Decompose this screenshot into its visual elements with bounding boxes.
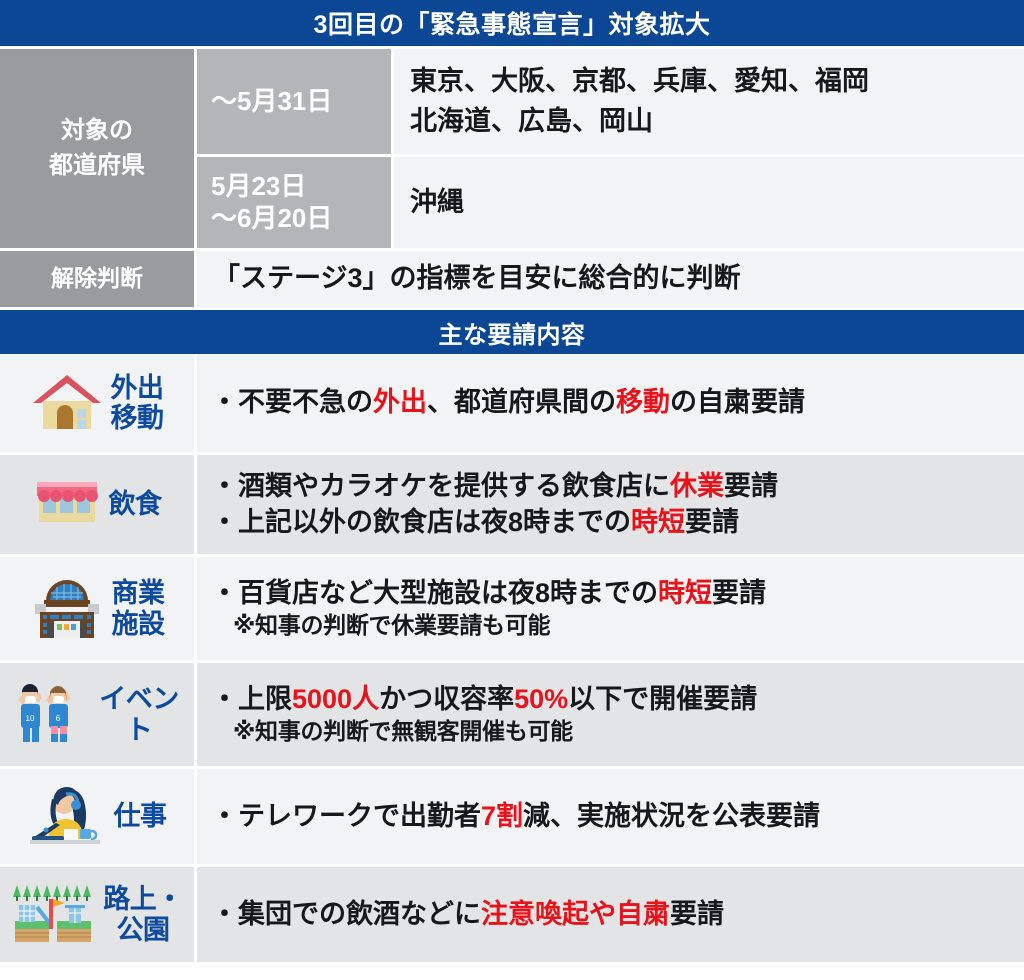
request-caption-line2: 施設 [112, 609, 165, 639]
request-icon-cell: 飲食 [0, 455, 194, 554]
request-line: ・テレワークで出勤者7割減、実施状況を公表要請 [211, 799, 1014, 834]
request-row-department-store: 商業施設・百貨店など大型施設は夜8時までの時短要請※知事の判断で休業要請も可能 [0, 554, 1024, 660]
request-caption-line1: イベント [90, 684, 188, 744]
page-title: 3回目の「緊急事態宣言」対象拡大 [0, 0, 1024, 46]
request-row-storefront: 飲食・酒類やカラオケを提供する飲食店に休業要請・上記以外の飲食店は夜8時までの時… [0, 452, 1024, 554]
request-caption-line1: 仕事 [114, 801, 167, 831]
prefectures-row-label: 対象の 都道府県 [0, 49, 194, 248]
plain-text: 要請 [670, 899, 724, 929]
request-line: ・不要不急の外出、都道府県間の移動の自粛要請 [211, 385, 1014, 420]
cheering-people-icon: 10 6 [6, 680, 82, 749]
plain-text: 要請 [685, 507, 739, 537]
top-table: 対象の 都道府県 〜5月31日 東京、大阪、京都、兵庫、愛知、福岡 北海道、広島… [0, 49, 1024, 307]
value-cell: 東京、大阪、京都、兵庫、愛知、福岡 北海道、広島、岡山 [394, 49, 1024, 154]
highlight-text: 時短 [631, 507, 685, 537]
request-line: ・酒類やカラオケを提供する飲食店に休業要請 [211, 469, 1014, 504]
svg-text:6: 6 [56, 714, 61, 723]
plain-text: 要請 [724, 471, 778, 501]
request-caption: 商業施設 [112, 578, 165, 638]
plain-text: かつ収容率 [379, 684, 514, 714]
plain-text: ・集団での飲酒などに [211, 899, 481, 929]
table-row: 〜5月31日 東京、大阪、京都、兵庫、愛知、福岡 北海道、広島、岡山 [197, 49, 1024, 154]
prefectures-block: 対象の 都道府県 〜5月31日 東京、大阪、京都、兵庫、愛知、福岡 北海道、広島… [0, 49, 1024, 248]
request-icon-cell: 商業施設 [0, 557, 194, 660]
request-icon-cell: 仕事 [0, 769, 194, 864]
request-body: ・上限5000人かつ収容率50%以下で開催要請※知事の判断で無観客開催も可能 [194, 663, 1024, 766]
request-body: ・テレワークで出勤者7割減、実施状況を公表要請 [194, 769, 1024, 864]
release-row-label: 解除判断 [0, 251, 194, 307]
request-caption-line1: 商業 [112, 578, 165, 608]
plain-text: ・酒類やカラオケを提供する飲食店に [211, 471, 670, 501]
table-row-release: 解除判断 「ステージ3」の指標を目安に総合的に判断 [0, 251, 1024, 307]
plain-text: ・不要不急の [211, 387, 373, 417]
plain-text: 、都道府県間の [427, 387, 616, 417]
plain-text: 要請 [712, 578, 766, 608]
date-line-1: 5月23日 [211, 171, 332, 202]
request-line: ・上限5000人かつ収容率50%以下で開催要請 [211, 682, 1014, 717]
plain-text: ・上限 [211, 684, 292, 714]
request-body: ・不要不急の外出、都道府県間の移動の自粛要請 [194, 354, 1024, 452]
infographic-root: 3回目の「緊急事態宣言」対象拡大 対象の 都道府県 〜5月31日 東京、大阪、京… [0, 0, 1024, 980]
value-cell: 沖縄 [394, 157, 1024, 248]
prefectures-label-line2: 都道府県 [49, 149, 145, 184]
request-note: ※知事の判断で無観客開催も可能 [211, 717, 1014, 747]
request-caption: イベント [90, 684, 188, 744]
request-note: ※知事の判断で休業要請も可能 [211, 611, 1014, 641]
request-row-remote-worker: 仕事・テレワークで出勤者7割減、実施状況を公表要請 [0, 766, 1024, 864]
highlight-text: 休業 [670, 471, 724, 501]
prefectures-label-line1: 対象の [49, 114, 145, 149]
plain-text: ・上記以外の飲食店は夜8時までの [211, 507, 631, 537]
plain-text: の自粛要請 [670, 387, 805, 417]
request-row-park-playground: 路上・公園・集団での飲酒などに注意喚起や自粛要請 [0, 864, 1024, 962]
date-cell: 〜5月31日 [197, 49, 391, 154]
prefectures-rows: 〜5月31日 東京、大阪、京都、兵庫、愛知、福岡 北海道、広島、岡山 5月23日 [197, 49, 1024, 248]
request-line: ・集団での飲酒などに注意喚起や自粛要請 [211, 897, 1014, 932]
value-line-1: 東京、大阪、京都、兵庫、愛知、福岡 [410, 62, 869, 101]
request-line: ・上記以外の飲食店は夜8時までの時短要請 [211, 505, 1014, 540]
request-row-cheering-people: 10 6 イベント・上限5000人かつ収容率50%以下で開催要請※知事の判断で無… [0, 660, 1024, 766]
request-row-house: 外出移動・不要不急の外出、都道府県間の移動の自粛要請 [0, 354, 1024, 452]
highlight-text: 5000人 [292, 684, 379, 714]
storefront-icon [33, 476, 101, 533]
request-caption-line1: 外出 [111, 373, 164, 403]
highlight-text: 時短 [658, 578, 712, 608]
request-icon-cell: 10 6 イベント [0, 663, 194, 766]
park-playground-icon [11, 881, 95, 948]
department-store-icon [30, 571, 104, 646]
plain-text: 減、実施状況を公表要請 [523, 801, 820, 831]
plain-text: ・テレワークで出勤者 [211, 801, 481, 831]
request-caption-line2: 公園 [103, 915, 183, 945]
highlight-text: 7割 [481, 801, 523, 831]
table-row: 5月23日 〜6月20日 沖縄 [197, 157, 1024, 248]
highlight-text: 外出 [373, 387, 427, 417]
request-line: ・百貨店など大型施設は夜8時までの時短要請 [211, 576, 1014, 611]
request-icon-cell: 外出移動 [0, 354, 194, 452]
request-caption-line1: 飲食 [109, 489, 162, 519]
value-line-2: 北海道、広島、岡山 [410, 102, 869, 141]
svg-text:10: 10 [26, 714, 35, 723]
request-caption: 外出移動 [111, 373, 164, 433]
request-caption-line1: 路上・ [103, 884, 183, 914]
request-caption: 路上・公園 [103, 884, 183, 944]
highlight-text: 50% [514, 684, 568, 714]
request-body: ・百貨店など大型施設は夜8時までの時短要請※知事の判断で休業要請も可能 [194, 557, 1024, 660]
date-cell: 5月23日 〜6月20日 [197, 157, 391, 248]
request-caption: 飲食 [109, 489, 162, 519]
date-line-2: 〜6月20日 [211, 203, 332, 234]
request-caption-line2: 移動 [111, 403, 164, 433]
request-icon-cell: 路上・公園 [0, 867, 194, 962]
highlight-text: 移動 [616, 387, 670, 417]
request-body: ・集団での飲酒などに注意喚起や自粛要請 [194, 867, 1024, 962]
requests-section-header: 主な要請内容 [0, 310, 1024, 354]
remote-worker-icon [28, 781, 106, 852]
plain-text: 以下で開催要請 [568, 684, 757, 714]
highlight-text: 注意喚起や自粛 [481, 899, 670, 929]
plain-text: ・百貨店など大型施設は夜8時までの [211, 578, 658, 608]
house-icon [31, 369, 103, 438]
release-value: 「ステージ3」の指標を目安に総合的に判断 [197, 251, 1024, 307]
request-caption: 仕事 [114, 801, 167, 831]
request-body: ・酒類やカラオケを提供する飲食店に休業要請・上記以外の飲食店は夜8時までの時短要… [194, 455, 1024, 554]
requests-list: 外出移動・不要不急の外出、都道府県間の移動の自粛要請 飲食・酒類やカラオケを提供… [0, 354, 1024, 962]
